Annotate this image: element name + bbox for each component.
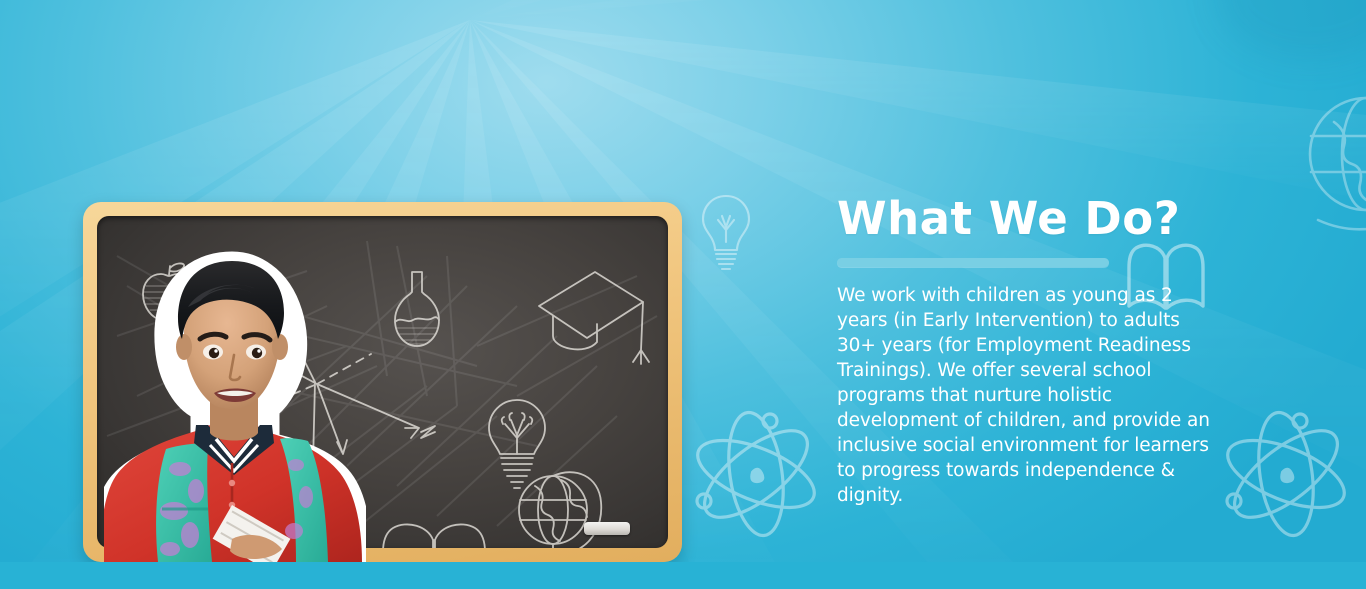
what-we-do-banner: What We Do? We work with children as you… [0,0,1366,589]
heading-divider [837,258,1109,267]
open-book-doodle [383,524,485,548]
student-photo [104,243,366,562]
section-heading: What We Do? [837,192,1227,246]
globe-doodle [519,472,601,548]
graduation-cap-doodle [539,272,649,364]
lightbulb-doodle [489,400,545,488]
chalk-eraser [584,522,630,535]
what-we-do-content: What We Do? We work with children as you… [837,192,1227,508]
section-body-text: We work with children as young as 2 year… [837,283,1215,508]
flask-doodle [395,272,439,346]
bottom-strip [0,562,1366,589]
